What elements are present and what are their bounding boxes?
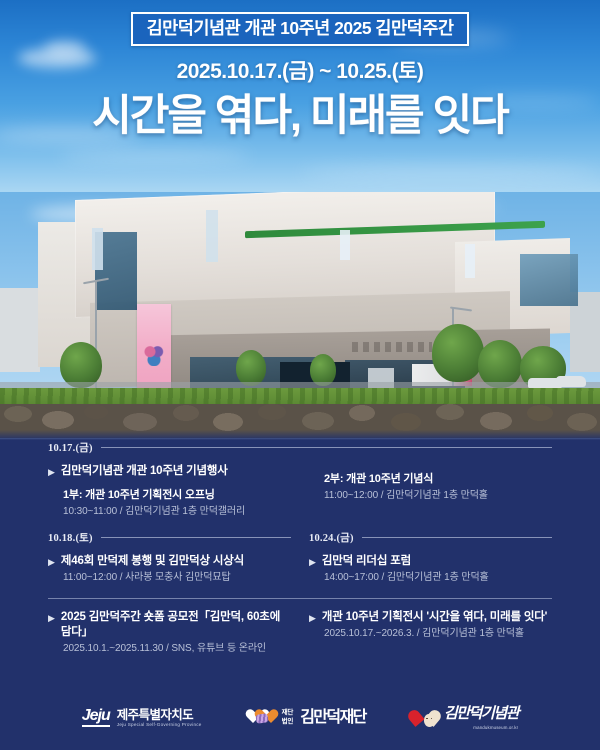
- schedule-grid: 10.17.(금) ▶ 김만덕기념관 개관 10주년 기념행사 1부: 개관 1…: [48, 440, 552, 656]
- face-shape: [424, 714, 435, 727]
- schedule-column-left: ▶ 제46회 만덕제 봉행 및 김만덕상 시상식 11:00~12:00 / 사…: [48, 554, 291, 585]
- event-title: 김만덕 리더십 포럼: [322, 554, 411, 570]
- window-slit: [465, 244, 475, 278]
- event-meta: 2025.10.1.~2025.11.30 / SNS, 유튜브 등 온라인: [63, 641, 291, 656]
- schedule-date-row: 10.17.(금): [48, 440, 552, 455]
- schedule-section: 10.17.(금) ▶ 김만덕기념관 개관 10주년 기념행사 1부: 개관 1…: [0, 440, 600, 685]
- eye-dot: [426, 718, 428, 720]
- schedule-row-2: ▶ 제46회 만덕제 봉행 및 김만덕상 시상식 11:00~12:00 / 사…: [48, 554, 552, 585]
- foundation-prefix-line2: 법인: [282, 718, 294, 725]
- event-heading: ▶ 2025 김만덕주간 숏폼 공모전「김만덕, 60초에 담다」: [48, 610, 291, 641]
- schedule-column-left: ▶ 김만덕기념관 개관 10주년 기념행사 1부: 개관 10주년 기획전시 오…: [48, 464, 291, 519]
- museum-building-photo: [0, 192, 600, 440]
- twin-heart-hands-icon: [250, 708, 275, 727]
- window-slit: [340, 230, 350, 260]
- schedule-date-row: 10.18.(토) 10.24.(금): [48, 530, 552, 545]
- triangle-bullet-icon: ▶: [309, 610, 316, 626]
- event-date-range: 2025.10.17.(금) ~ 10.25.(토): [0, 55, 600, 85]
- logo-kim-mandeok-memorial-hall: 김만덕기념관 mandukmuseum.or.kr: [414, 705, 518, 730]
- jeju-name-kr: 제주특별자치도: [117, 708, 202, 722]
- heart-red-lobe: [406, 707, 425, 726]
- spacer: [48, 519, 552, 530]
- spacer: [48, 480, 291, 487]
- event-ribbon-title: 김만덕기념관 개관 10주년 2025 김만덕주간: [131, 12, 470, 46]
- date-label: 10.24.(금): [309, 530, 354, 545]
- date-header-cell: 10.24.(금): [309, 530, 552, 545]
- tree-decoration: [236, 350, 266, 386]
- spacer: [309, 464, 552, 471]
- date-rule: [101, 537, 291, 538]
- event-title: 김만덕기념관 개관 10주년 기념행사: [61, 464, 228, 480]
- jeju-name-block: 제주특별자치도 Jeju Special Self-Governing Prov…: [117, 708, 202, 728]
- event-heading: ▶ 제46회 만덕제 봉행 및 김만덕상 시상식: [48, 554, 291, 570]
- event-heading: ▶ 개관 10주년 기획전시 '시간을 엮다, 미래를 잇다': [309, 610, 552, 626]
- event-meta: 11:00~12:00 / 사라봉 모충사 김만덕묘탑: [63, 570, 291, 585]
- photo-bottom-fade: [0, 430, 600, 440]
- schedule-row-3: ▶ 2025 김만덕주간 숏폼 공모전「김만덕, 60초에 담다」 2025.1…: [48, 610, 552, 656]
- cloud-decoration: [300, 166, 600, 180]
- sub-event-meta: 11:00~12:00 / 김만덕기념관 1층 만덕홀: [324, 488, 552, 503]
- banner-illustration-icon: [144, 344, 164, 366]
- museum-wordmark: 김만덕기념관: [444, 705, 518, 722]
- triangle-bullet-icon: ▶: [48, 554, 55, 570]
- event-title: 2025 김만덕주간 숏폼 공모전「김만덕, 60초에 담다」: [61, 610, 291, 641]
- date-rule: [101, 447, 552, 448]
- sub-event-title: 2부: 개관 10주년 기념식: [324, 471, 552, 488]
- schedule-column-right: ▶ 개관 10주년 기획전시 '시간을 엮다, 미래를 잇다' 2025.10.…: [309, 610, 552, 656]
- foundation-wordmark-main: 김만덕: [300, 709, 339, 726]
- tree-decoration: [432, 324, 484, 382]
- sub-event-item: 2부: 개관 10주년 기념식 11:00~12:00 / 김만덕기념관 1층 …: [324, 471, 552, 503]
- foundation-wordmark-suffix: 재단: [340, 709, 366, 726]
- museum-name-block: 김만덕기념관 mandukmuseum.or.kr: [444, 705, 518, 730]
- page-title: 시간을 엮다, 미래를 잇다: [0, 94, 600, 139]
- adjacent-building-left: [0, 288, 40, 372]
- museum-url: mandukmuseum.or.kr: [444, 725, 518, 730]
- schedule-row-1: ▶ 김만덕기념관 개관 10주년 기념행사 1부: 개관 10주년 기획전시 오…: [48, 464, 552, 519]
- car-icon: [556, 376, 586, 387]
- schedule-column-right: ▶ 김만덕 리더십 포럼 14:00~17:00 / 김만덕기념관 1층 만덕홀: [309, 554, 552, 585]
- date-label: 10.18.(토): [48, 530, 93, 545]
- triangle-bullet-icon: ▶: [309, 554, 316, 570]
- event-title: 개관 10주년 기획전시 '시간을 엮다, 미래를 잇다': [322, 610, 547, 626]
- event-meta: 14:00~17:00 / 김만덕기념관 1층 만덕홀: [324, 570, 552, 585]
- foundation-prefix-line1: 재단: [282, 709, 294, 716]
- event-heading: ▶ 김만덕기념관 개관 10주년 기념행사: [48, 464, 291, 480]
- event-heading: ▶ 김만덕 리더십 포럼: [309, 554, 552, 570]
- schedule-column-right: 2부: 개관 10주년 기념식 11:00~12:00 / 김만덕기념관 1층 …: [309, 464, 552, 519]
- sub-event-title: 1부: 개관 10주년 기획전시 오프닝: [63, 487, 291, 504]
- sub-event-item: 1부: 개관 10주년 기획전시 오프닝 10:30~11:00 / 김만덕기념…: [63, 487, 291, 519]
- logo-jeju-province: Jeju 제주특별자치도 Jeju Special Self-Governing…: [82, 708, 202, 728]
- window-slit: [92, 228, 103, 270]
- sub-event-meta: 10:30~11:00 / 김만덕기념관 1층 만덕갤러리: [63, 504, 291, 519]
- logo-kim-mandeok-foundation: 재단 법인 김만덕재단: [250, 708, 366, 727]
- triangle-bullet-icon: ▶: [48, 464, 55, 480]
- window-slit: [206, 210, 218, 262]
- poster-root: 김만덕기념관 개관 10주년 2025 김만덕주간 2025.10.17.(금)…: [0, 0, 600, 750]
- date-header-cell: 10.17.(금): [48, 440, 552, 455]
- red-heart-face-icon: [414, 707, 437, 729]
- section-divider: [48, 598, 552, 599]
- cloud-decoration: [60, 150, 250, 162]
- footer-logo-bar: Jeju 제주특별자치도 Jeju Special Self-Governing…: [0, 685, 600, 750]
- triangle-bullet-icon: ▶: [48, 610, 55, 626]
- glass-curtain-wall-right: [520, 254, 578, 306]
- foundation-prefix: 재단 법인: [282, 709, 294, 725]
- hand-shape: [255, 713, 268, 724]
- foundation-wordmark: 김만덕재단: [300, 710, 366, 726]
- jeju-wordmark: Jeju: [82, 708, 110, 727]
- date-label: 10.17.(금): [48, 440, 93, 455]
- building-signage: [352, 342, 432, 352]
- event-meta: 2025.10.17.~2026.3. / 김만덕기념관 1층 만덕홀: [324, 626, 552, 641]
- tree-decoration: [478, 340, 522, 388]
- date-header-cell: 10.18.(토): [48, 530, 291, 545]
- schedule-column-left: ▶ 2025 김만덕주간 숏폼 공모전「김만덕, 60초에 담다」 2025.1…: [48, 610, 291, 656]
- event-title: 제46회 만덕제 봉행 및 김만덕상 시상식: [61, 554, 244, 570]
- hero-sky-section: 김만덕기념관 개관 10주년 2025 김만덕주간 2025.10.17.(금)…: [0, 0, 600, 215]
- hero-text-block: 김만덕기념관 개관 10주년 2025 김만덕주간 2025.10.17.(금)…: [0, 0, 600, 139]
- date-rule: [362, 537, 552, 538]
- jeju-name-en: Jeju Special Self-Governing Province: [117, 722, 202, 728]
